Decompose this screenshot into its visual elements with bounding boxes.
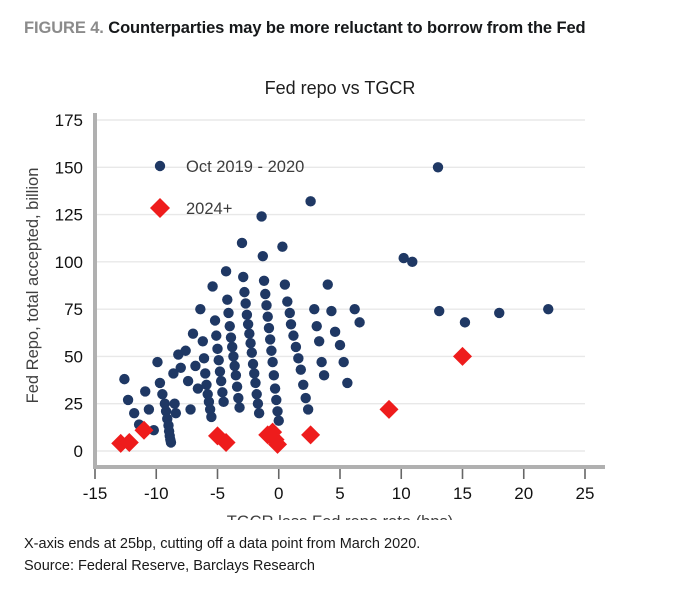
data-point-circle: [245, 338, 255, 348]
data-point-circle: [237, 238, 247, 248]
data-point-circle: [140, 386, 150, 396]
data-point-circle: [253, 399, 263, 409]
data-point-circle: [144, 404, 154, 414]
data-point-circle: [214, 355, 224, 365]
data-point-circle: [231, 370, 241, 380]
data-point-circle: [314, 336, 324, 346]
y-axis-tick-label: 125: [55, 206, 83, 225]
data-point-circle: [335, 340, 345, 350]
series-1: [119, 162, 553, 448]
data-point-circle: [243, 319, 253, 329]
y-axis-tick-label: 50: [64, 347, 83, 366]
x-axis-tick-label: -15: [83, 484, 108, 503]
data-point-circle: [407, 257, 417, 267]
data-point-circle: [543, 304, 553, 314]
data-point-circle: [119, 374, 129, 384]
data-point-circle: [244, 329, 254, 339]
data-point-circle: [183, 376, 193, 386]
data-point-circle: [171, 408, 181, 418]
data-point-circle: [330, 327, 340, 337]
data-point-circle: [303, 404, 313, 414]
data-point-circle: [185, 404, 195, 414]
chart-container: Fed repo vs TGCR 0255075100125150175 -15…: [0, 70, 694, 520]
data-point-circle: [215, 366, 225, 376]
data-point-diamond: [453, 347, 472, 366]
data-point-circle: [274, 416, 284, 426]
data-point-circle: [326, 306, 336, 316]
data-point-circle: [223, 308, 233, 318]
x-axis-tick-label: 10: [392, 484, 411, 503]
data-point-circle: [285, 308, 295, 318]
data-point-circle: [228, 351, 238, 361]
data-point-circle: [176, 363, 186, 373]
data-point-circle: [247, 347, 257, 357]
data-point-circle: [123, 395, 133, 405]
data-point-circle: [260, 289, 270, 299]
x-axis-tick-label: -10: [144, 484, 169, 503]
data-point-circle: [277, 242, 287, 252]
data-point-circle: [242, 310, 252, 320]
data-point-circle: [240, 298, 250, 308]
data-point-circle: [200, 368, 210, 378]
data-points: [111, 162, 553, 454]
footnote-source: Source: Federal Reserve, Barclays Resear…: [24, 556, 674, 578]
data-point-circle: [206, 412, 216, 422]
data-point-circle: [226, 332, 236, 342]
data-point-circle: [233, 393, 243, 403]
data-point-circle: [239, 287, 249, 297]
data-point-circle: [222, 294, 232, 304]
data-point-circle: [249, 368, 259, 378]
data-point-circle: [350, 304, 360, 314]
data-point-circle: [323, 279, 333, 289]
data-point-circle: [354, 317, 364, 327]
data-point-circle: [207, 281, 217, 291]
data-point-circle: [282, 296, 292, 306]
data-point-circle: [229, 361, 239, 371]
page-title: Counterparties may be more reluctant to …: [108, 19, 585, 37]
x-axis-tick-label: 5: [335, 484, 344, 503]
data-point-circle: [434, 306, 444, 316]
data-point-diamond: [301, 425, 320, 444]
data-point-circle: [270, 383, 280, 393]
y-axis-tick-label: 175: [55, 111, 83, 130]
x-axis-tick-label: -5: [210, 484, 225, 503]
data-point-circle: [252, 389, 262, 399]
figure-label: FIGURE 4.: [24, 19, 104, 37]
y-axis-tick-label: 150: [55, 158, 83, 177]
data-point-circle: [227, 342, 237, 352]
data-point-circle: [212, 344, 222, 354]
data-point-circle: [238, 272, 248, 282]
footnotes: X-axis ends at 25bp, cutting off a data …: [24, 534, 674, 578]
data-point-circle: [305, 196, 315, 206]
data-point-circle: [494, 308, 504, 318]
data-point-circle: [309, 304, 319, 314]
data-point-circle: [232, 381, 242, 391]
figure-heading: FIGURE 4. Counterparties may be more rel…: [24, 18, 664, 40]
data-point-circle: [261, 300, 271, 310]
data-point-circle: [166, 437, 176, 447]
data-point-circle: [267, 357, 277, 367]
data-point-circle: [250, 378, 260, 388]
data-point-circle: [217, 387, 227, 397]
data-point-circle: [201, 380, 211, 390]
data-point-circle: [263, 312, 273, 322]
x-axis-title: TGCR less Fed repo rate (bps): [227, 513, 454, 520]
data-point-circle: [129, 408, 139, 418]
data-point-circle: [301, 393, 311, 403]
scatter-plot: 0255075100125150175 -15-10-50510152025 O…: [0, 70, 694, 520]
legend-label: 2024+: [186, 200, 232, 218]
data-point-diamond: [380, 400, 399, 419]
x-axis-ticks: -15-10-50510152025: [83, 469, 595, 503]
data-point-circle: [338, 357, 348, 367]
data-point-circle: [433, 162, 443, 172]
data-point-circle: [271, 395, 281, 405]
data-point-circle: [272, 406, 282, 416]
data-point-circle: [199, 353, 209, 363]
y-axis-tick-label: 75: [64, 300, 83, 319]
data-point-circle: [190, 361, 200, 371]
data-point-circle: [169, 399, 179, 409]
footnote-note: X-axis ends at 25bp, cutting off a data …: [24, 534, 674, 556]
data-point-circle: [256, 211, 266, 221]
data-point-circle: [218, 397, 228, 407]
data-point-circle: [216, 376, 226, 386]
data-point-circle: [266, 346, 276, 356]
data-point-circle: [157, 389, 167, 399]
y-axis-tick-label: 100: [55, 253, 83, 272]
y-axis-tick-label: 0: [74, 442, 83, 461]
data-point-circle: [296, 364, 306, 374]
data-point-circle: [316, 357, 326, 367]
data-point-circle: [188, 329, 198, 339]
data-point-circle: [460, 317, 470, 327]
x-axis-tick-label: 20: [514, 484, 533, 503]
legend-label: Oct 2019 - 2020: [186, 158, 304, 176]
data-point-circle: [254, 408, 264, 418]
data-point-circle: [286, 319, 296, 329]
data-point-circle: [319, 370, 329, 380]
data-point-circle: [342, 378, 352, 388]
data-point-circle: [258, 251, 268, 261]
data-point-circle: [248, 359, 258, 369]
data-point-circle: [225, 321, 235, 331]
data-point-circle: [293, 353, 303, 363]
data-point-circle: [198, 336, 208, 346]
data-point-circle: [298, 380, 308, 390]
y-axis-title: Fed Repo, total accepted, billion: [24, 168, 42, 404]
data-point-circle: [234, 402, 244, 412]
legend-marker-circle: [155, 161, 165, 171]
data-point-circle: [211, 330, 221, 340]
x-axis-tick-label: 15: [453, 484, 472, 503]
x-axis-tick-label: 25: [576, 484, 595, 503]
y-axis-ticks: 0255075100125150175: [55, 111, 83, 461]
data-point-circle: [259, 276, 269, 286]
y-axis-tick-label: 25: [64, 395, 83, 414]
data-point-circle: [195, 304, 205, 314]
data-point-circle: [265, 334, 275, 344]
data-point-circle: [291, 342, 301, 352]
data-point-circle: [152, 357, 162, 367]
data-point-circle: [155, 378, 165, 388]
data-point-circle: [280, 279, 290, 289]
figure-container: FIGURE 4. Counterparties may be more rel…: [0, 0, 694, 600]
x-axis-tick-label: 0: [274, 484, 283, 503]
data-point-circle: [312, 321, 322, 331]
data-point-circle: [210, 315, 220, 325]
data-point-circle: [221, 266, 231, 276]
data-point-circle: [180, 346, 190, 356]
data-point-circle: [269, 370, 279, 380]
data-point-circle: [264, 323, 274, 333]
data-point-circle: [288, 330, 298, 340]
